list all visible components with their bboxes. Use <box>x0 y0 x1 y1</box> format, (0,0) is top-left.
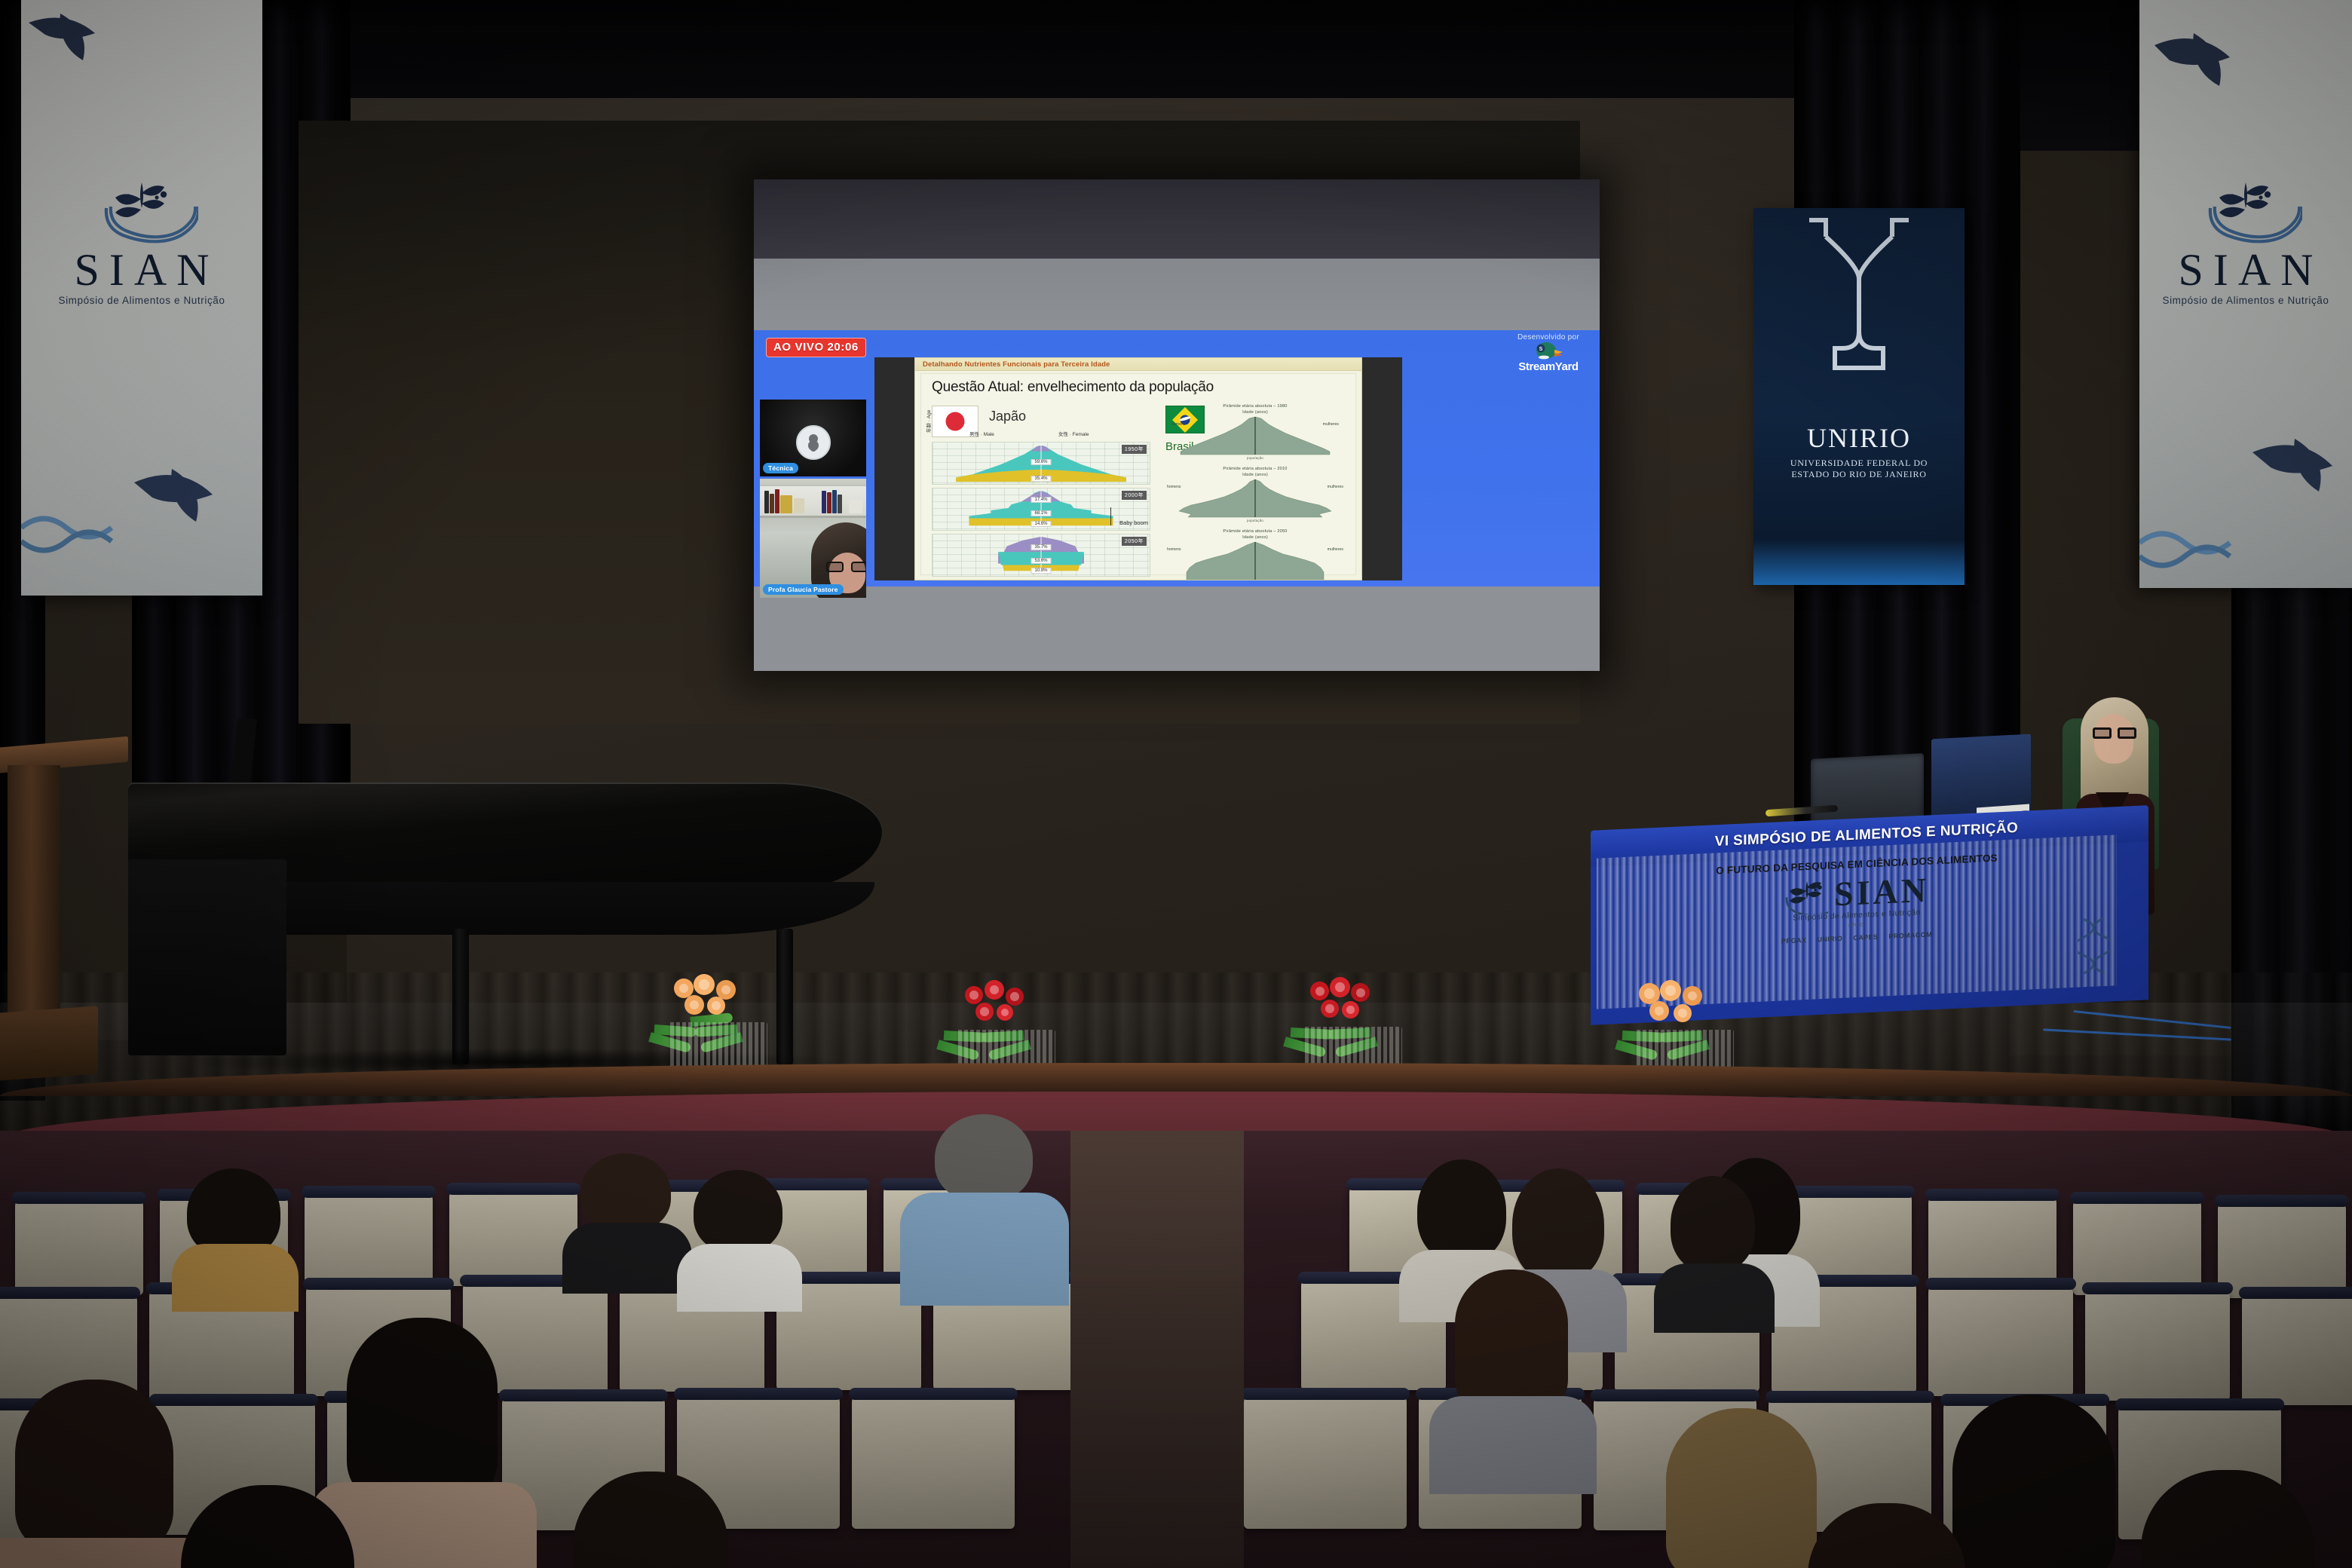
flower-arrangement-4 <box>1613 980 1756 1076</box>
brazil-y-label-2050: Idade (anos) <box>1161 535 1349 541</box>
japan-2050-young-pct: 10.8% <box>1031 568 1051 574</box>
sian-emblem-right: SIAN Simpósio de Alimentos e Nutrição <box>2139 173 2352 306</box>
sian-tagline-left: Simpósio de Alimentos e Nutrição <box>21 295 262 306</box>
participant-tiles: Técnica <box>760 400 866 598</box>
seat[interactable] <box>852 1393 1015 1529</box>
seat[interactable] <box>15 1197 143 1295</box>
streamyard-branding: Desenvolvido por S StreamYard <box>1503 333 1594 372</box>
lectern <box>0 743 136 1097</box>
brazil-caption-1980: Pirâmide etária absoluta – 1980 <box>1161 404 1349 410</box>
participant-tile-speaker[interactable]: Profa Glaucia Pastore <box>760 479 866 598</box>
baby-boom-annotation: Baby boom <box>1119 519 1148 526</box>
banner-sian-left: SIAN Simpósio de Alimentos e Nutrição <box>21 0 262 596</box>
brazil-x-label-2010: população <box>1161 519 1349 522</box>
developed-by-label: Desenvolvido por <box>1503 333 1594 341</box>
svg-text:S: S <box>1539 347 1543 352</box>
brazil-pyramid-2050: Pirâmide etária absoluta – 2050 Idade (a… <box>1161 529 1349 580</box>
seat[interactable] <box>1928 1283 2073 1396</box>
japan-2000-young-pct: 14.6% <box>1031 521 1051 527</box>
brazil-caption-2050: Pirâmide etária absoluta – 2050 <box>1161 529 1349 535</box>
japan-2000-adult-pct: 68.1% <box>1031 510 1051 516</box>
flower-arrangement-2 <box>935 980 1078 1076</box>
slide-header: Detalhando Nutrientes Funcionais para Te… <box>915 358 1361 371</box>
banner-unirio-right: UNIRIO UNIVERSIDADE FEDERAL DO ESTADO DO… <box>1753 208 1965 585</box>
duck-icon: S <box>1503 341 1594 361</box>
brazil-y-label-1980: Idade (anos) <box>1161 410 1349 416</box>
seat[interactable] <box>1244 1393 1407 1529</box>
brazil-pyramid-2010: Pirâmide etária absoluta – 2010 Idade (a… <box>1161 467 1349 525</box>
japan-2050-adult-pct: 53.6% <box>1031 558 1051 564</box>
lectern-column <box>8 765 60 1014</box>
unirio-wordmark-right: UNIRIO <box>1753 422 1965 454</box>
sponsor-unirio: UNIRIO <box>1817 935 1842 944</box>
sponsor-promacom: PROMACOM <box>1888 930 1932 940</box>
seat[interactable] <box>305 1191 433 1289</box>
seat[interactable] <box>2242 1292 2352 1405</box>
flower-arrangement-3 <box>1282 977 1425 1073</box>
speaker-face-table <box>2094 714 2133 764</box>
sian-wordmark-right: SIAN <box>2139 247 2352 292</box>
slide-title: Questão Atual: envelhecimento da populaç… <box>921 374 1355 396</box>
auditorium-scene: SIAN Simpósio de Alimentos e Nutrição UN… <box>0 0 2352 1568</box>
eyeglasses-icon <box>826 562 866 572</box>
piano-keyboard-end <box>128 859 286 1055</box>
japan-y-axis-label: 年齢 · Age <box>924 410 932 433</box>
sian-emblem-left: SIAN Simpósio de Alimentos e Nutrição <box>21 173 262 306</box>
seat[interactable] <box>2218 1200 2346 1298</box>
dna-helix-icon <box>2078 917 2109 983</box>
brazil-y-label-2010: Idade (anos) <box>1161 473 1349 479</box>
japan-pyramid-2000: 2000年 17.4% 68.1% 14.6% Ba <box>932 488 1150 531</box>
avatar-placeholder-icon <box>796 425 831 460</box>
piano-leg-front <box>452 929 469 1064</box>
table-banner-wordmark: SIAN <box>1834 874 1929 911</box>
brazil-x-label-1980: população <box>1161 456 1349 460</box>
brazil-pyramid-group: Pirâmide etária absoluta – 1980 Idade (a… <box>1161 404 1349 580</box>
streamyard-wordmark: StreamYard <box>1503 361 1594 372</box>
planter-pot-1 <box>668 1022 767 1069</box>
seat[interactable] <box>449 1188 577 1286</box>
brazil-caption-2010: Pirâmide etária absoluta – 2010 <box>1161 467 1349 473</box>
slide-body: Questão Atual: envelhecimento da populaç… <box>920 373 1356 575</box>
projection-screen: AO VIVO 20:06 Desenvolvido por S StreamY… <box>754 179 1600 671</box>
japan-pyramid-1950: 1950年 59.6% 35.4% <box>932 442 1150 485</box>
brazil-pyramid-1980: Pirâmide etária absoluta – 1980 Idade (a… <box>1161 404 1349 463</box>
sponsor-ppgax: PPGAX <box>1781 936 1807 945</box>
flower-arrangement-1 <box>647 972 790 1069</box>
japan-2000-old-pct: 17.4% <box>1031 497 1051 503</box>
japan-1950-adult-pct: 59.6% <box>1031 459 1051 465</box>
sian-tagline-right: Simpósio de Alimentos e Nutrição <box>2139 295 2352 306</box>
japan-pyramid-group: 1950年 59.6% 35.4% <box>932 442 1150 580</box>
banner-sian-right: SIAN Simpósio de Alimentos e Nutrição <box>2139 0 2352 588</box>
unirio-line2-right: ESTADO DO RIO DE JANEIRO <box>1753 469 1965 480</box>
live-badge: AO VIVO 20:06 <box>766 338 866 357</box>
audience-area <box>0 1131 2352 1568</box>
japan-2050-old-pct: 35.7% <box>1031 544 1051 550</box>
japan-male-label: 男性 · Male <box>969 430 994 437</box>
lectern-base <box>0 1006 98 1082</box>
presentation-slide: Detalhando Nutrientes Funcionais para Te… <box>914 357 1362 580</box>
seat[interactable] <box>2085 1288 2230 1401</box>
japan-female-label: 女性 · Female <box>1058 430 1089 437</box>
japan-1950-young-pct: 35.4% <box>1031 476 1051 482</box>
seat[interactable] <box>2073 1197 2201 1295</box>
bookshelf <box>760 485 866 518</box>
participant-tile-tecnica[interactable]: Técnica <box>760 400 866 476</box>
speaker-glasses-icon <box>2093 727 2136 739</box>
sian-leaf-icon <box>1784 876 1828 916</box>
screen-grey-band <box>754 259 1600 332</box>
participant-name-speaker: Profa Glaucia Pastore <box>763 584 844 595</box>
unirio-line1-right: UNIVERSIDADE FEDERAL DO <box>1753 458 1965 469</box>
sponsor-capes: CAPES <box>1853 933 1878 942</box>
shared-screen-region: Detalhando Nutrientes Funcionais para Te… <box>874 357 1402 580</box>
sian-wordmark-left: SIAN <box>21 247 262 292</box>
japan-pyramid-2050: 2050年 35.7% 53.6% 10.8% <box>932 534 1150 577</box>
screen-dark-band <box>754 179 1600 259</box>
streamyard-canvas: AO VIVO 20:06 Desenvolvido por S StreamY… <box>754 330 1600 586</box>
center-aisle <box>1070 1131 1244 1568</box>
participant-name-tecnica: Técnica <box>763 463 798 473</box>
japan-label: Japão <box>989 409 1026 424</box>
